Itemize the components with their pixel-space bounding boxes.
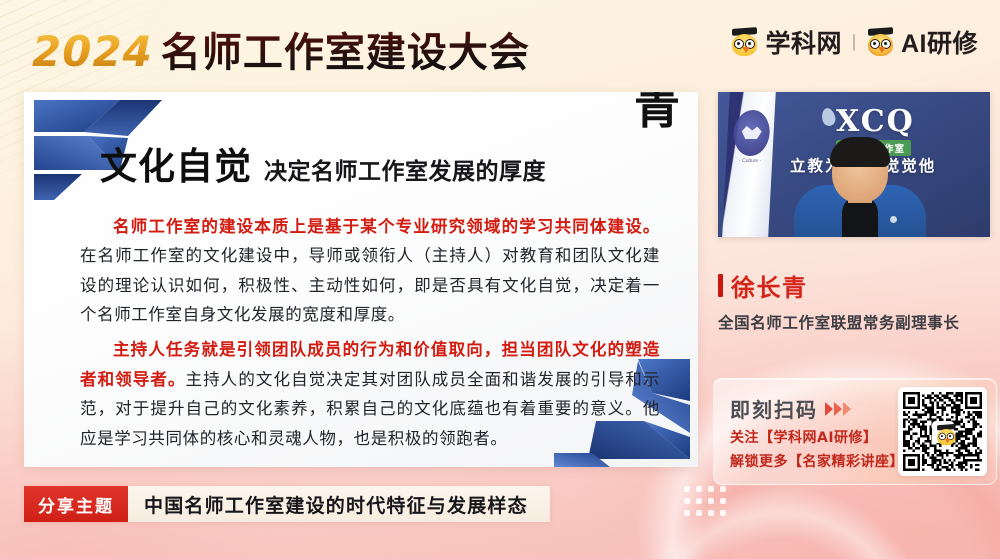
scan-label: 即刻扫码	[730, 394, 818, 423]
slide-corner-character: 青	[634, 92, 680, 130]
qr-promo-card[interactable]: 即刻扫码 关注【学科网AI研修】 解锁更多【名家精彩讲座】	[713, 378, 997, 485]
brand-ai-yanxiu[interactable]: AI研修	[866, 24, 978, 60]
slide-paragraph: 主持人任务就是引领团队成员的行为和价值取向，担当团队文化的塑造者和领导者。主持人…	[80, 335, 660, 452]
dot-grid-decoration	[684, 486, 728, 518]
scan-prompt: 即刻扫码	[730, 394, 851, 423]
triple-chevron-right-icon	[825, 402, 851, 416]
speaker-name-row: 徐长青	[718, 268, 990, 303]
page-header: 2024名师工作室建设大会 学科网 AI研修	[0, 0, 1000, 86]
banner-flag-decoration: · Culture ·	[722, 92, 776, 237]
accent-bar	[718, 274, 723, 297]
speaker-info: 徐长青 全国名师工作室联盟常务副理事长	[718, 268, 990, 333]
topic-bar: 分享主题 中国名师工作室建设的时代特征与发展样态	[24, 486, 550, 522]
title-year: 2024	[32, 27, 161, 76]
slide-paragraph: 名师工作室的建设本质上是基于某个专业研究领域的学习共同体建设。在名师工作室的文化…	[80, 212, 660, 329]
owl-graduate-icon	[730, 28, 759, 57]
brand-label-ai: AI研修	[901, 24, 978, 60]
owl-graduate-icon	[932, 421, 954, 443]
qr-line-2: 解锁更多【名家精彩讲座】	[730, 451, 904, 471]
broadcast-stage: 2024名师工作室建设大会 学科网 AI研修	[0, 0, 1000, 559]
owl-graduate-icon	[866, 28, 895, 57]
qr-line-1: 关注【学科网AI研修】	[730, 427, 878, 447]
topic-badge: 分享主题	[24, 486, 128, 522]
backdrop-logo-text: XCQ	[836, 104, 915, 139]
topic-title: 中国名师工作室建设的时代特征与发展样态	[128, 486, 550, 522]
brand-logos: 学科网 AI研修	[730, 24, 978, 60]
brand-separator	[853, 34, 855, 51]
brand-label-xkw: 学科网	[765, 24, 842, 60]
slide-heading-sub: 决定名师工作室发展的厚度	[264, 152, 546, 186]
brand-xkw[interactable]: 学科网	[730, 24, 842, 60]
page-title: 2024名师工作室建设大会	[32, 20, 530, 78]
presentation-slide[interactable]: 青 文化自觉 决定名师工作室发展的厚度 名师工作室的建设本质上是基于某个专业研究…	[24, 92, 698, 467]
speaker-video-feed[interactable]: · Culture · XCQ 徐长青工作室 立教为学 自觉觉他	[718, 92, 990, 237]
slide-heading: 文化自觉 决定名师工作室发展的厚度	[100, 136, 546, 190]
slide-heading-main: 文化自觉	[100, 136, 252, 190]
slide-paragraph-highlight: 名师工作室的建设本质上是基于某个专业研究领域的学习共同体建设。	[113, 217, 660, 236]
slide-body-text: 名师工作室的建设本质上是基于某个专业研究领域的学习共同体建设。在名师工作室的文化…	[80, 212, 660, 459]
speaker-role: 全国名师工作室联盟常务副理事长	[718, 311, 990, 333]
title-text: 名师工作室建设大会	[161, 30, 530, 76]
qr-code-icon[interactable]	[898, 387, 987, 476]
speaker-name: 徐长青	[731, 268, 808, 303]
speaker-figure	[794, 147, 926, 237]
slide-paragraph-body: 在名师工作室的文化建设中，导师或领衔人（主持人）对教育和团队文化建设的理论认识如…	[80, 246, 660, 324]
